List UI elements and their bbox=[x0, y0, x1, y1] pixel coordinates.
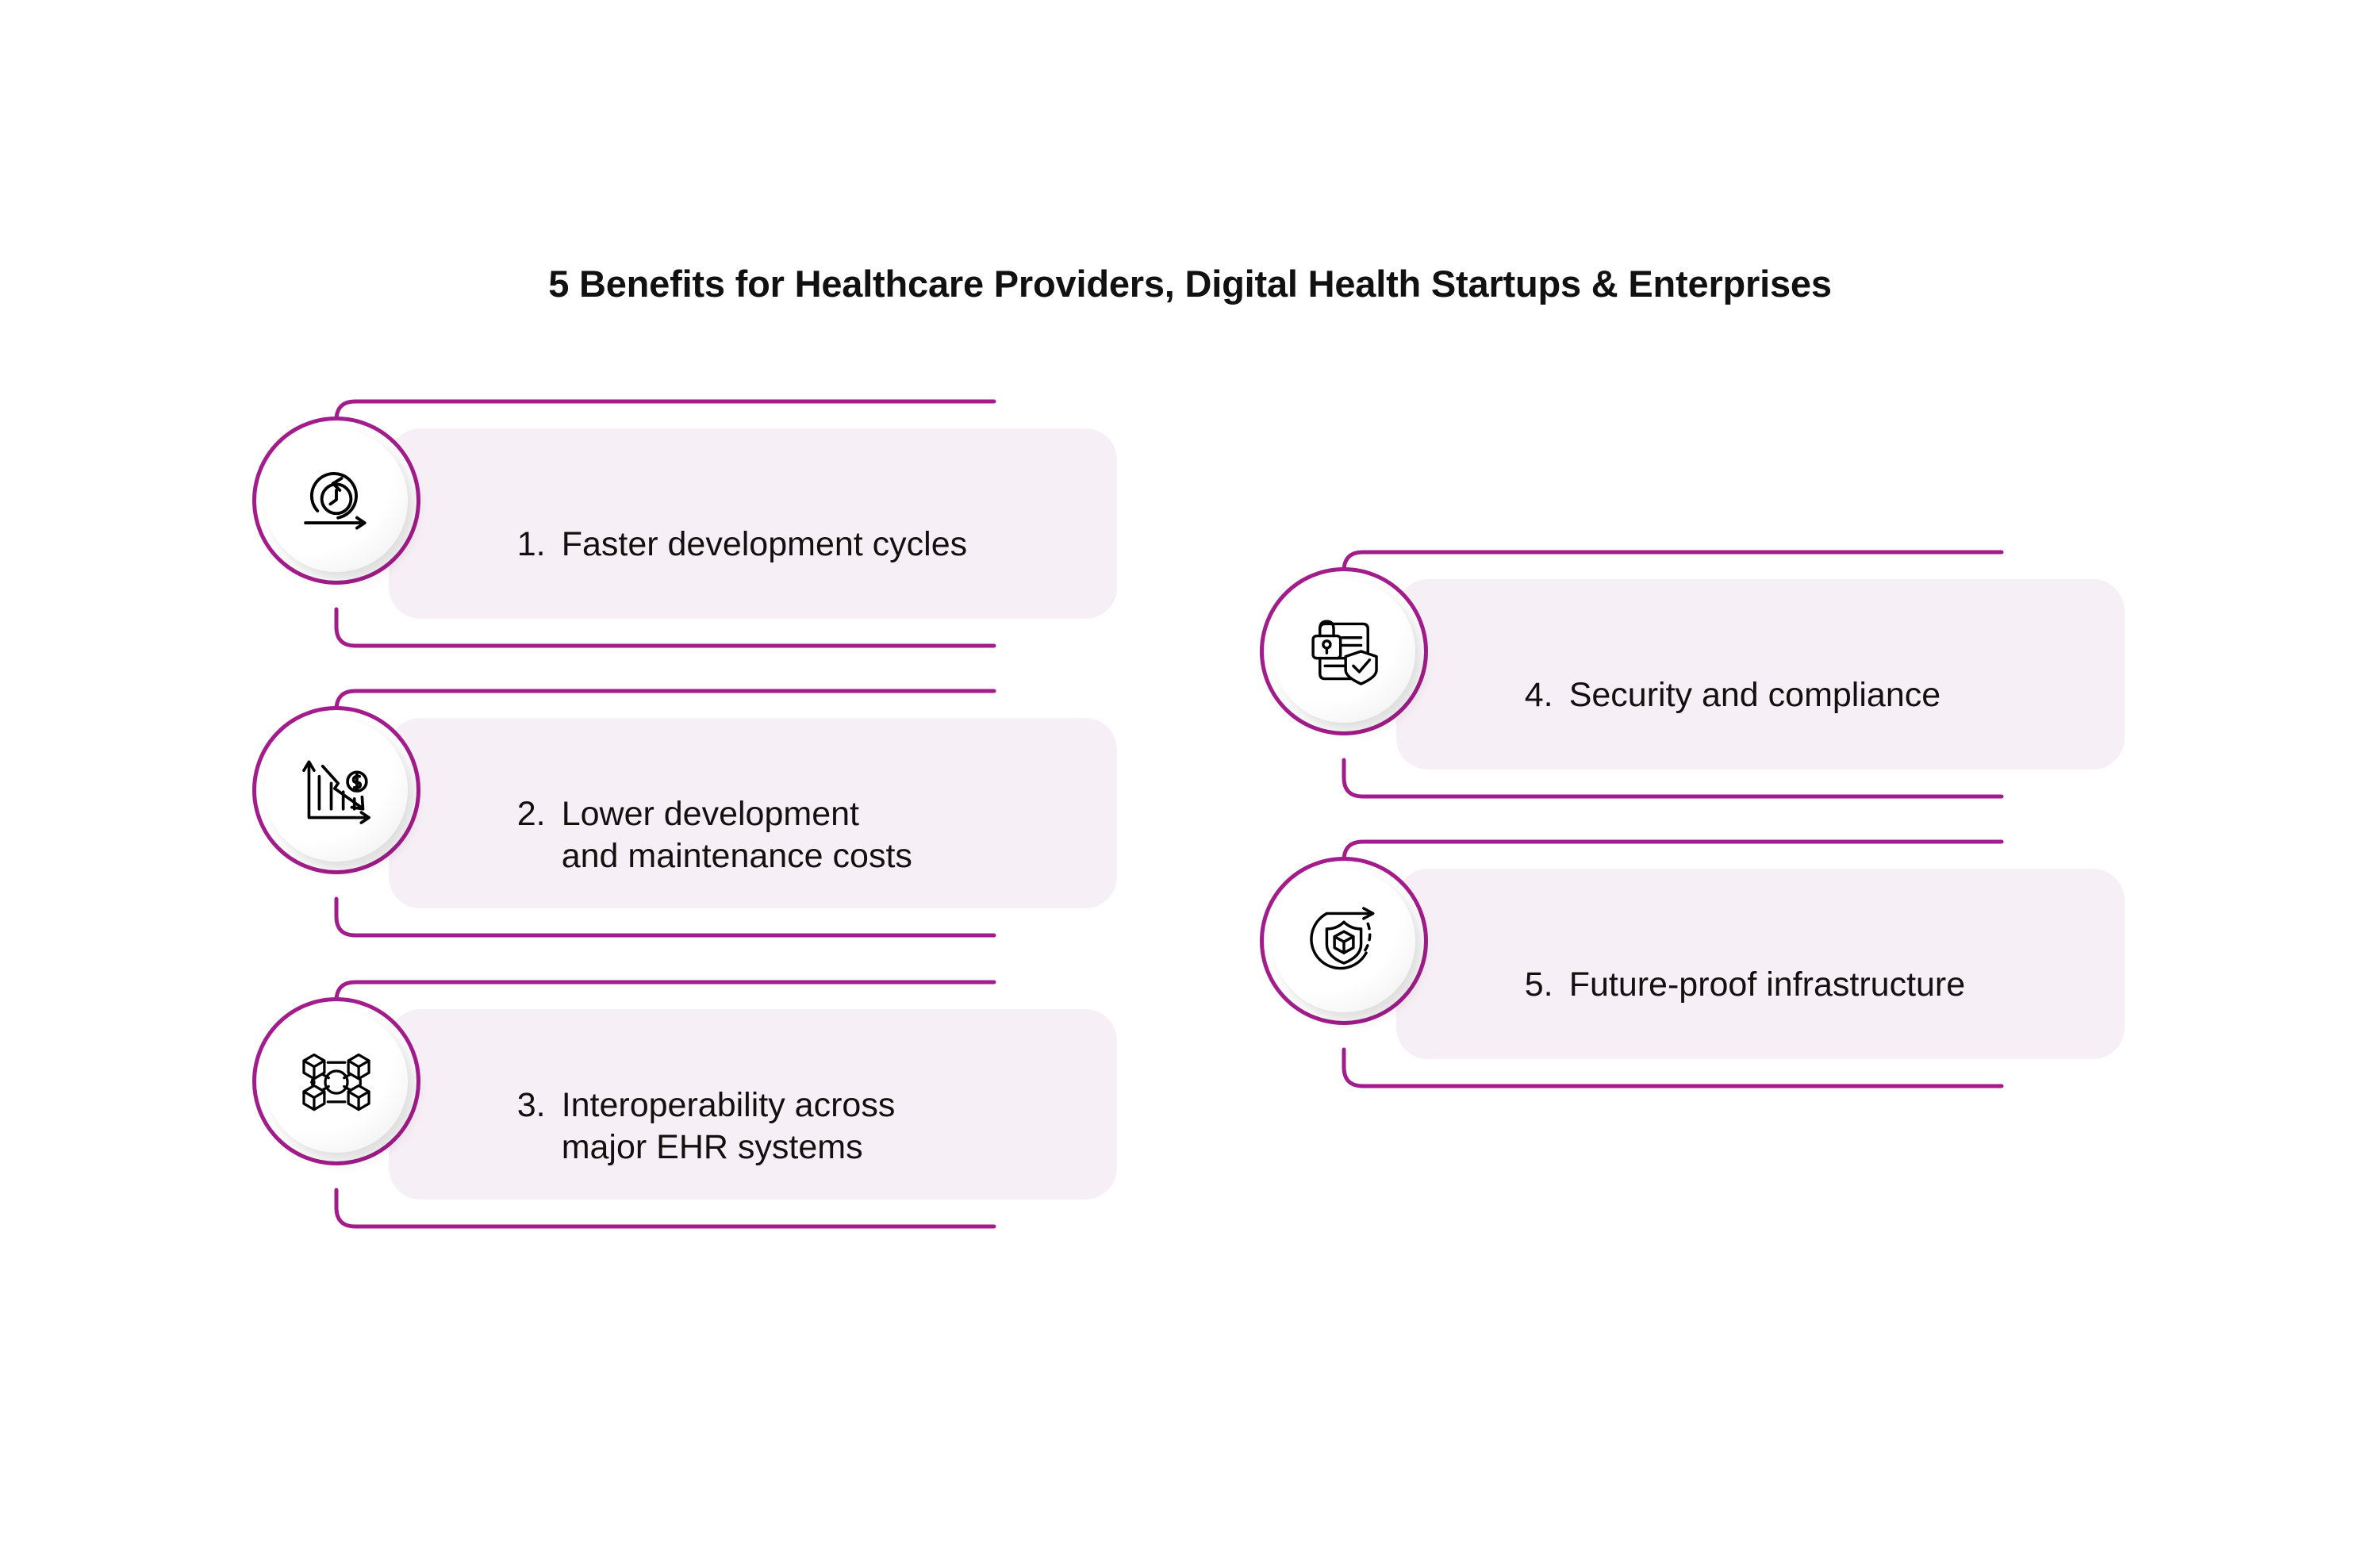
card-body-1: Faster development cycles bbox=[562, 524, 967, 565]
card-body-3-line-2: major EHR systems bbox=[562, 1128, 863, 1166]
icon-medallion-2 bbox=[252, 706, 420, 874]
card-body-3: Interoperability acrossmajor EHR systems bbox=[562, 1084, 896, 1168]
locked-document-shield-check-icon bbox=[1301, 608, 1387, 694]
medallion-disc-4 bbox=[1273, 580, 1415, 723]
card-body-2-line-2: and maintenance costs bbox=[562, 837, 912, 875]
medallion-disc-1 bbox=[265, 429, 408, 572]
card-number-2: 2. bbox=[517, 793, 562, 835]
icon-medallion-1 bbox=[252, 416, 420, 585]
icon-medallion-3 bbox=[252, 997, 420, 1165]
card-label-1: 1.Faster development cycles bbox=[460, 482, 1127, 607]
connected-nodes-network-icon bbox=[294, 1038, 379, 1124]
card-body-3-line-1: Interoperability across bbox=[562, 1086, 896, 1124]
shield-cube-refresh-icon bbox=[1301, 898, 1387, 984]
medallion-disc-2 bbox=[265, 719, 408, 862]
benefit-card-3[interactable]: 3.Interoperability acrossmajor EHR syste… bbox=[252, 977, 1165, 1231]
icon-medallion-4 bbox=[1260, 567, 1428, 735]
benefit-card-1[interactable]: 1.Faster development cycles bbox=[252, 397, 1165, 651]
card-body-2: Lower developmentand maintenance costs bbox=[562, 793, 912, 877]
infographic-canvas: 5 Benefits for Healthcare Providers, Dig… bbox=[0, 0, 2380, 1547]
card-number-1: 1. bbox=[517, 524, 562, 565]
benefit-card-4[interactable]: 4.Security and compliance bbox=[1260, 547, 2172, 801]
card-body-4: Security and compliance bbox=[1569, 674, 1940, 716]
card-body-2-line-1: Lower development bbox=[562, 795, 859, 833]
card-label-4: 4.Security and compliance bbox=[1468, 633, 2134, 758]
card-number-5: 5. bbox=[1525, 964, 1569, 1005]
medallion-disc-5 bbox=[1273, 869, 1415, 1012]
icon-medallion-5 bbox=[1260, 857, 1428, 1025]
benefit-card-2[interactable]: 2.Lower developmentand maintenance costs bbox=[252, 686, 1165, 940]
card-body-5: Future-proof infrastructure bbox=[1569, 964, 1965, 1005]
benefit-card-5[interactable]: 5.Future-proof infrastructure bbox=[1260, 837, 2172, 1091]
card-number-4: 4. bbox=[1525, 674, 1569, 716]
declining-cost-chart-icon bbox=[294, 747, 379, 833]
card-number-3: 3. bbox=[517, 1084, 562, 1126]
medallion-disc-3 bbox=[265, 1010, 408, 1153]
page-title: 5 Benefits for Healthcare Providers, Dig… bbox=[0, 262, 2380, 305]
card-label-3: 3.Interoperability acrossmajor EHR syste… bbox=[460, 1043, 1127, 1210]
clock-cycle-arrow-icon bbox=[294, 458, 379, 543]
card-label-5: 5.Future-proof infrastructure bbox=[1468, 923, 2134, 1047]
card-label-2: 2.Lower developmentand maintenance costs bbox=[460, 752, 1127, 919]
